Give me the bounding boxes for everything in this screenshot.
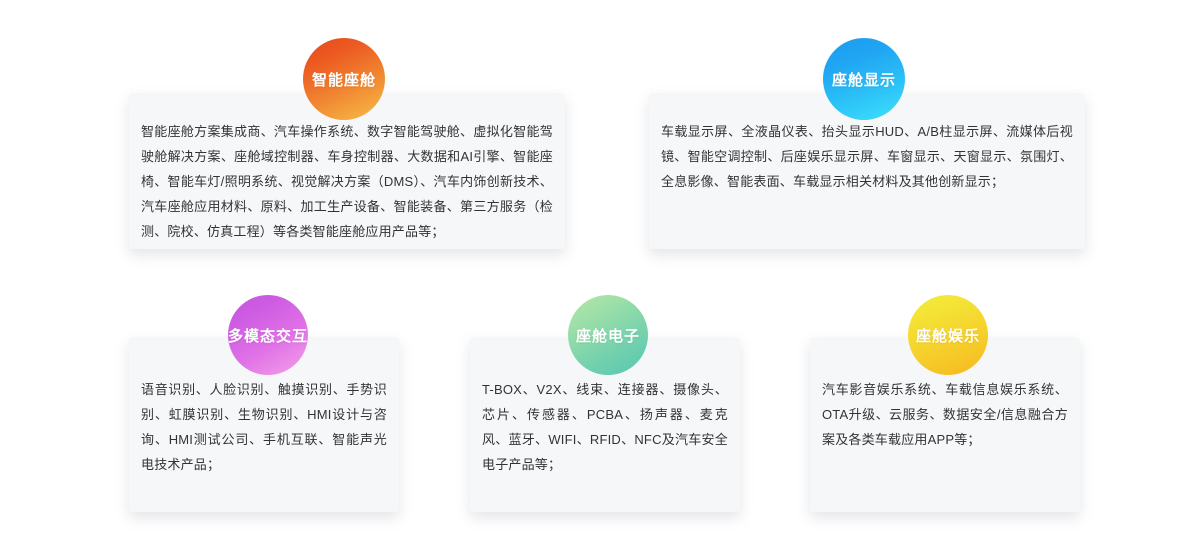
badge-cockpit-entertainment[interactable]: 座舱娱乐 xyxy=(908,295,988,375)
badge-cockpit-display-label: 座舱显示 xyxy=(832,69,896,90)
card-cockpit-display-body: 车载显示屏、全液晶仪表、抬头显示HUD、A/B柱显示屏、流媒体后视镜、智能空调控… xyxy=(649,119,1085,194)
card-intelligent-cockpit-body: 智能座舱方案集成商、汽车操作系统、数字智能驾驶舱、虚拟化智能驾驶舱解决方案、座舱… xyxy=(129,119,565,244)
badge-intelligent-cockpit-label: 智能座舱 xyxy=(312,69,376,90)
badge-cockpit-electronics-label: 座舱电子 xyxy=(576,325,640,346)
card-cockpit-entertainment-body: 汽车影音娱乐系统、车载信息娱乐系统、OTA升级、云服务、数据安全/信息融合方案及… xyxy=(810,377,1080,452)
badge-cockpit-electronics[interactable]: 座舱电子 xyxy=(568,295,648,375)
card-cockpit-electronics-body: T-BOX、V2X、线束、连接器、摄像头、芯片、传感器、PCBA、扬声器、麦克风… xyxy=(470,377,740,477)
card-multimodal-body: 语音识别、人脸识别、触摸识别、手势识别、虹膜识别、生物识别、HMI设计与咨询、H… xyxy=(129,377,399,477)
badge-cockpit-display[interactable]: 座舱显示 xyxy=(823,38,905,120)
badge-multimodal[interactable]: 多模态交互 xyxy=(228,295,308,375)
badge-multimodal-label: 多模态交互 xyxy=(228,325,308,346)
badge-intelligent-cockpit[interactable]: 智能座舱 xyxy=(303,38,385,120)
category-cards-stage: 智能座舱方案集成商、汽车操作系统、数字智能驾驶舱、虚拟化智能驾驶舱解决方案、座舱… xyxy=(0,0,1200,550)
badge-cockpit-entertainment-label: 座舱娱乐 xyxy=(916,325,980,346)
